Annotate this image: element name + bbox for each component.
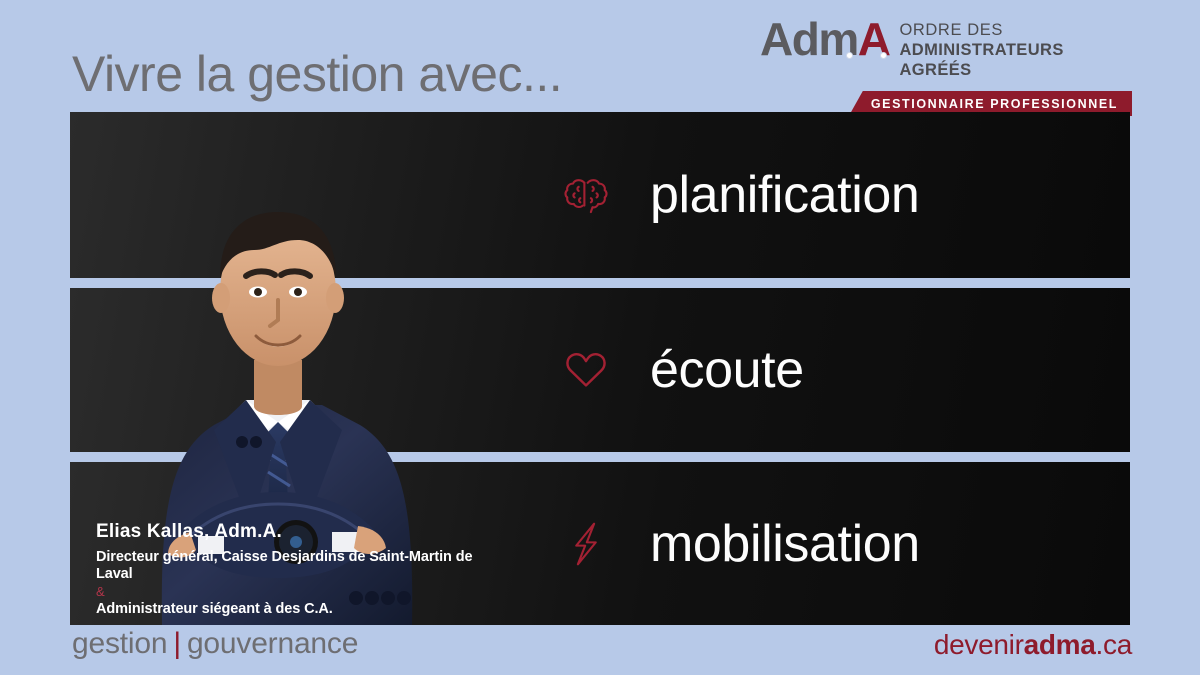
speaker-role-ampersand: &: [96, 585, 496, 598]
footer-tagline-separator: |: [173, 627, 181, 660]
logo-subtitle-line2: ADMINISTRATEURS AGRÉÉS: [899, 40, 1132, 80]
speaker-role-secondary: Administrateur siégeant à des C.A.: [96, 601, 496, 618]
brain-icon: [560, 169, 612, 221]
slide-canvas: Vivre la gestion avec... AdmA ORDRE DES …: [0, 0, 1200, 675]
keyword-label-2: écoute: [650, 340, 804, 400]
website-tld: .ca: [1096, 629, 1132, 660]
website-brand: adma: [1024, 629, 1096, 660]
logo-dot-right: [880, 52, 887, 59]
logo-dot-left: [846, 52, 853, 59]
adma-logo: AdmA ORDRE DES ADMINISTRATEURS AGRÉÉS GE…: [760, 16, 1132, 108]
keyword-band-2: écoute: [70, 288, 1130, 452]
logo-wordmark-gray: Adm: [760, 13, 858, 65]
keyword-row-1: planification: [560, 112, 919, 278]
speaker-credit: Elias Kallas, Adm.A. Directeur général, …: [96, 522, 496, 618]
keyword-label-1: planification: [650, 165, 919, 225]
logo-subtitle-line1: ORDRE DES: [899, 20, 1132, 40]
logo-wordmark: AdmA: [760, 16, 889, 62]
page-title: Vivre la gestion avec...: [72, 45, 562, 103]
keyword-label-3: mobilisation: [650, 514, 920, 574]
footer-tagline-second: gouvernance: [187, 627, 358, 660]
speaker-role-primary: Directeur général, Caisse Desjardins de …: [96, 549, 496, 582]
heart-icon: [560, 344, 612, 396]
keyword-band-1: planification: [70, 112, 1130, 278]
keyword-row-2: écoute: [560, 288, 804, 452]
keyword-row-3: mobilisation: [560, 462, 920, 625]
logo-subtitle: ORDRE DES ADMINISTRATEURS AGRÉÉS: [899, 16, 1132, 80]
lightning-bolt-icon: [560, 518, 612, 570]
website-prefix: devenir: [934, 629, 1024, 660]
speaker-name: Elias Kallas, Adm.A.: [96, 522, 496, 543]
logo-row: AdmA ORDRE DES ADMINISTRATEURS AGRÉÉS: [760, 16, 1132, 80]
footer-website-link[interactable]: deveniradma.ca: [934, 629, 1132, 661]
footer-tagline: gestion|gouvernance: [72, 627, 358, 661]
footer-tagline-first: gestion: [72, 627, 167, 660]
